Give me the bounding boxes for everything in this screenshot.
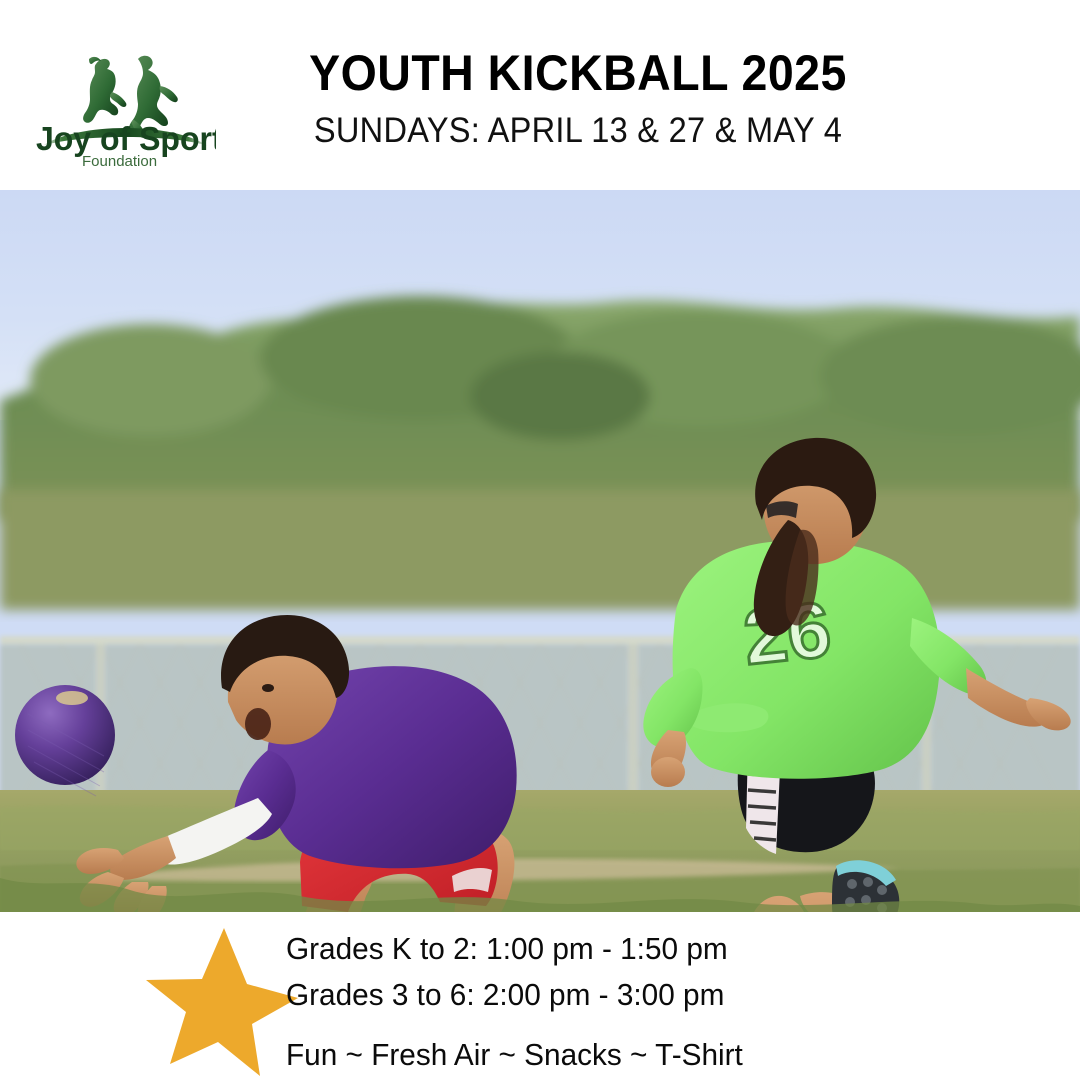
joy-of-sports-logo: Joy of Sports Foundation <box>34 42 216 168</box>
kickball-action-scene: 26 <box>0 190 1080 912</box>
footer-details: Grades K to 2: 1:00 pm - 1:50 pm Grades … <box>0 912 1080 1080</box>
page-title: YOUTH KICKBALL 2025 <box>253 46 904 100</box>
footer-text-block: Grades K to 2: 1:00 pm - 1:50 pm Grades … <box>286 926 886 1078</box>
schedule-line-2: Grades 3 to 6: 2:00 pm - 3:00 pm <box>286 972 862 1018</box>
logo-brand-name: Joy of Sports <box>36 121 216 158</box>
schedule-line-1: Grades K to 2: 1:00 pm - 1:50 pm <box>286 926 862 972</box>
event-dates: SUNDAYS: APRIL 13 & 27 & MAY 4 <box>253 109 904 153</box>
header-text-block: YOUTH KICKBALL 2025 SUNDAYS: APRIL 13 & … <box>228 46 928 153</box>
treeline <box>0 296 1080 520</box>
perks-line: Fun ~ Fresh Air ~ Snacks ~ T-Shirt <box>286 1032 862 1078</box>
event-photo: 26 <box>0 190 1080 912</box>
logo-wordmark: Joy of Sports Foundation <box>34 42 216 168</box>
flyer-poster: Joy of Sports Foundation YOUTH KICKBALL … <box>0 0 1080 1080</box>
logo-brand-sub: Foundation <box>82 153 157 168</box>
star-icon <box>146 924 298 1076</box>
star-graphic <box>146 924 298 1076</box>
header-banner: Joy of Sports Foundation YOUTH KICKBALL … <box>0 0 1080 190</box>
